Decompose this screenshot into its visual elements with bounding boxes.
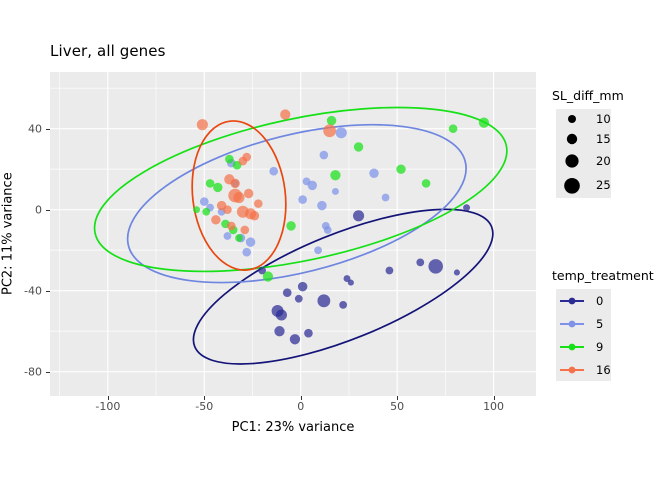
data-point bbox=[227, 222, 236, 231]
x-tick-label: 100 bbox=[483, 400, 504, 413]
y-tick-mark bbox=[46, 210, 50, 211]
legend-size-key bbox=[556, 130, 588, 148]
legend-size-label: 20 bbox=[596, 154, 611, 168]
legend-size-item[interactable]: 20 bbox=[556, 149, 611, 172]
legend-size-title: SL_diff_mm bbox=[552, 88, 624, 103]
data-point bbox=[339, 301, 347, 309]
data-point bbox=[396, 164, 405, 173]
data-point bbox=[246, 237, 255, 246]
legend-color-label: 5 bbox=[596, 317, 603, 331]
y-tick-mark bbox=[46, 291, 50, 292]
data-point bbox=[233, 192, 244, 203]
x-tick-label: -100 bbox=[95, 400, 120, 413]
legend-size-label: 15 bbox=[596, 132, 611, 146]
data-point bbox=[416, 258, 424, 266]
data-point bbox=[254, 199, 263, 208]
data-point bbox=[386, 267, 394, 275]
data-point bbox=[422, 179, 431, 188]
data-point bbox=[354, 142, 363, 151]
data-point bbox=[283, 288, 292, 297]
data-point bbox=[348, 280, 354, 286]
data-point bbox=[213, 183, 222, 192]
data-point bbox=[308, 181, 317, 190]
data-point bbox=[224, 232, 232, 240]
x-axis-title: PC1: 23% variance bbox=[50, 420, 536, 435]
legend-size-key bbox=[556, 176, 588, 196]
data-point bbox=[353, 210, 364, 221]
x-tick-label: 50 bbox=[390, 400, 404, 413]
data-point bbox=[239, 157, 248, 166]
data-point bbox=[317, 294, 330, 307]
data-point bbox=[449, 124, 458, 133]
legend-color-key bbox=[556, 360, 588, 380]
plot-panel bbox=[50, 72, 536, 396]
data-point bbox=[280, 109, 290, 119]
data-point bbox=[298, 195, 307, 204]
legend-color-label: 16 bbox=[596, 363, 611, 377]
data-point bbox=[336, 127, 347, 138]
legend-size-label: 10 bbox=[596, 112, 611, 126]
data-point bbox=[463, 204, 470, 211]
legend-color-title: temp_treatment bbox=[552, 268, 654, 283]
y-tick-mark bbox=[46, 129, 50, 130]
legend-color-item[interactable]: 9 bbox=[556, 335, 611, 358]
data-point bbox=[206, 179, 215, 188]
confidence-ellipse bbox=[80, 76, 521, 302]
data-point bbox=[298, 282, 307, 291]
data-point bbox=[314, 246, 322, 254]
legend-temp-treatment: temp_treatment 05916 bbox=[556, 268, 654, 384]
data-point bbox=[323, 124, 336, 137]
data-point bbox=[290, 334, 300, 344]
data-point bbox=[330, 170, 340, 180]
y-tick-mark bbox=[46, 372, 50, 373]
data-point bbox=[235, 234, 243, 242]
data-point bbox=[200, 197, 209, 206]
legend-color-item[interactable]: 16 bbox=[556, 358, 611, 381]
legend-size-key bbox=[556, 110, 588, 128]
data-point bbox=[479, 117, 489, 127]
data-point bbox=[250, 211, 259, 220]
legend-color-key bbox=[556, 291, 588, 311]
legend-size-item[interactable]: 10 bbox=[556, 109, 611, 129]
data-point bbox=[369, 169, 378, 178]
legend-color-label: 9 bbox=[596, 340, 603, 354]
y-axis-title: PC2: 11% variance bbox=[0, 72, 16, 396]
data-point bbox=[223, 205, 232, 214]
data-point bbox=[276, 309, 287, 320]
data-point bbox=[230, 179, 239, 188]
legend-size-label: 25 bbox=[596, 178, 611, 192]
data-point bbox=[263, 271, 273, 281]
data-point bbox=[332, 188, 339, 195]
data-point bbox=[382, 194, 390, 202]
data-point bbox=[240, 226, 249, 235]
data-point bbox=[244, 189, 253, 198]
data-point bbox=[274, 326, 284, 336]
data-point bbox=[295, 295, 303, 303]
data-point bbox=[193, 206, 200, 213]
x-tick-label: -50 bbox=[195, 400, 213, 413]
legend-color-items: 05916 bbox=[556, 289, 611, 381]
data-point bbox=[317, 201, 326, 210]
data-point bbox=[197, 119, 208, 130]
legend-color-item[interactable]: 0 bbox=[556, 289, 611, 312]
data-point bbox=[202, 208, 210, 216]
data-point bbox=[327, 116, 336, 125]
legend-size-item[interactable]: 25 bbox=[556, 173, 611, 199]
data-point bbox=[324, 226, 332, 234]
x-tick-label: 0 bbox=[297, 400, 304, 413]
data-point bbox=[286, 221, 295, 230]
legend-color-key bbox=[556, 314, 588, 334]
legend-size-items: 10152025 bbox=[556, 109, 611, 198]
legend-color-key bbox=[556, 337, 588, 357]
pca-scatter-plot: Liver, all genes -100-50050100 400-40-80… bbox=[0, 0, 672, 480]
data-point bbox=[304, 329, 313, 338]
data-point bbox=[428, 259, 442, 273]
data-point bbox=[211, 215, 220, 224]
data-point bbox=[454, 269, 460, 275]
confidence-ellipse bbox=[112, 95, 482, 313]
page-title: Liver, all genes bbox=[50, 42, 166, 60]
data-layer bbox=[50, 72, 536, 396]
legend-sl-diff-mm: SL_diff_mm 10152025 bbox=[556, 88, 624, 199]
data-point bbox=[320, 151, 329, 160]
data-point bbox=[269, 167, 278, 176]
legend-size-key bbox=[556, 152, 588, 170]
legend-color-item[interactable]: 5 bbox=[556, 312, 611, 335]
data-point bbox=[225, 155, 234, 164]
legend-color-label: 0 bbox=[596, 294, 603, 308]
data-point bbox=[242, 248, 251, 257]
legend-size-item[interactable]: 15 bbox=[556, 129, 611, 149]
